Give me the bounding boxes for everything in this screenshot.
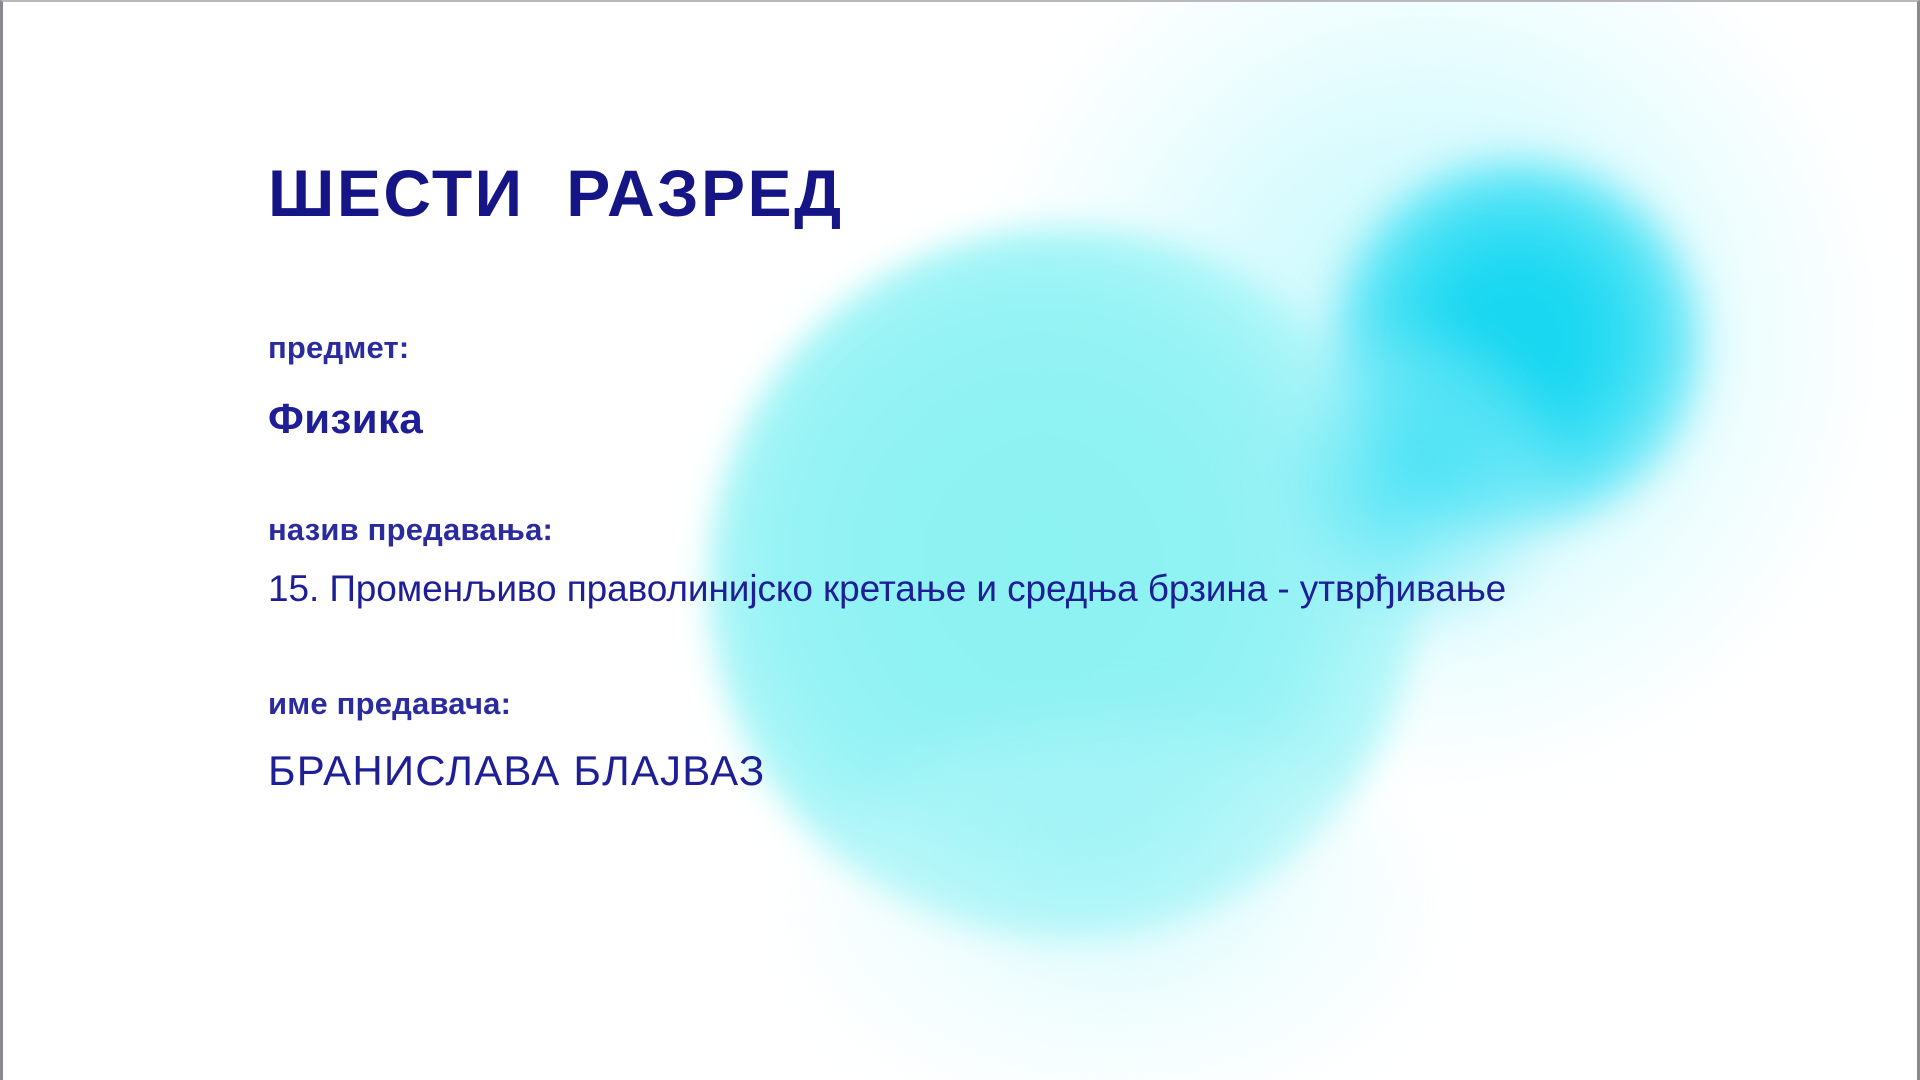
subject-label: предмет: xyxy=(268,332,409,363)
subject-value: Физика xyxy=(268,398,423,440)
lecture-title-value: 15. Променљиво праволинијско кретање и с… xyxy=(268,570,1506,607)
lecturer-name-value: БРАНИСЛАВА БЛАЈВАЗ xyxy=(268,750,765,792)
slide-text-content: ШЕСТИ РАЗРЕД предмет: Физика назив преда… xyxy=(268,2,1868,1080)
lecture-title-slide: ШЕСТИ РАЗРЕД предмет: Физика назив преда… xyxy=(0,0,1920,1080)
slide-title-grade: ШЕСТИ РАЗРЕД xyxy=(268,160,844,226)
lecturer-name-label: име предавача: xyxy=(268,688,511,719)
lecture-title-label: назив предавања: xyxy=(268,514,553,545)
